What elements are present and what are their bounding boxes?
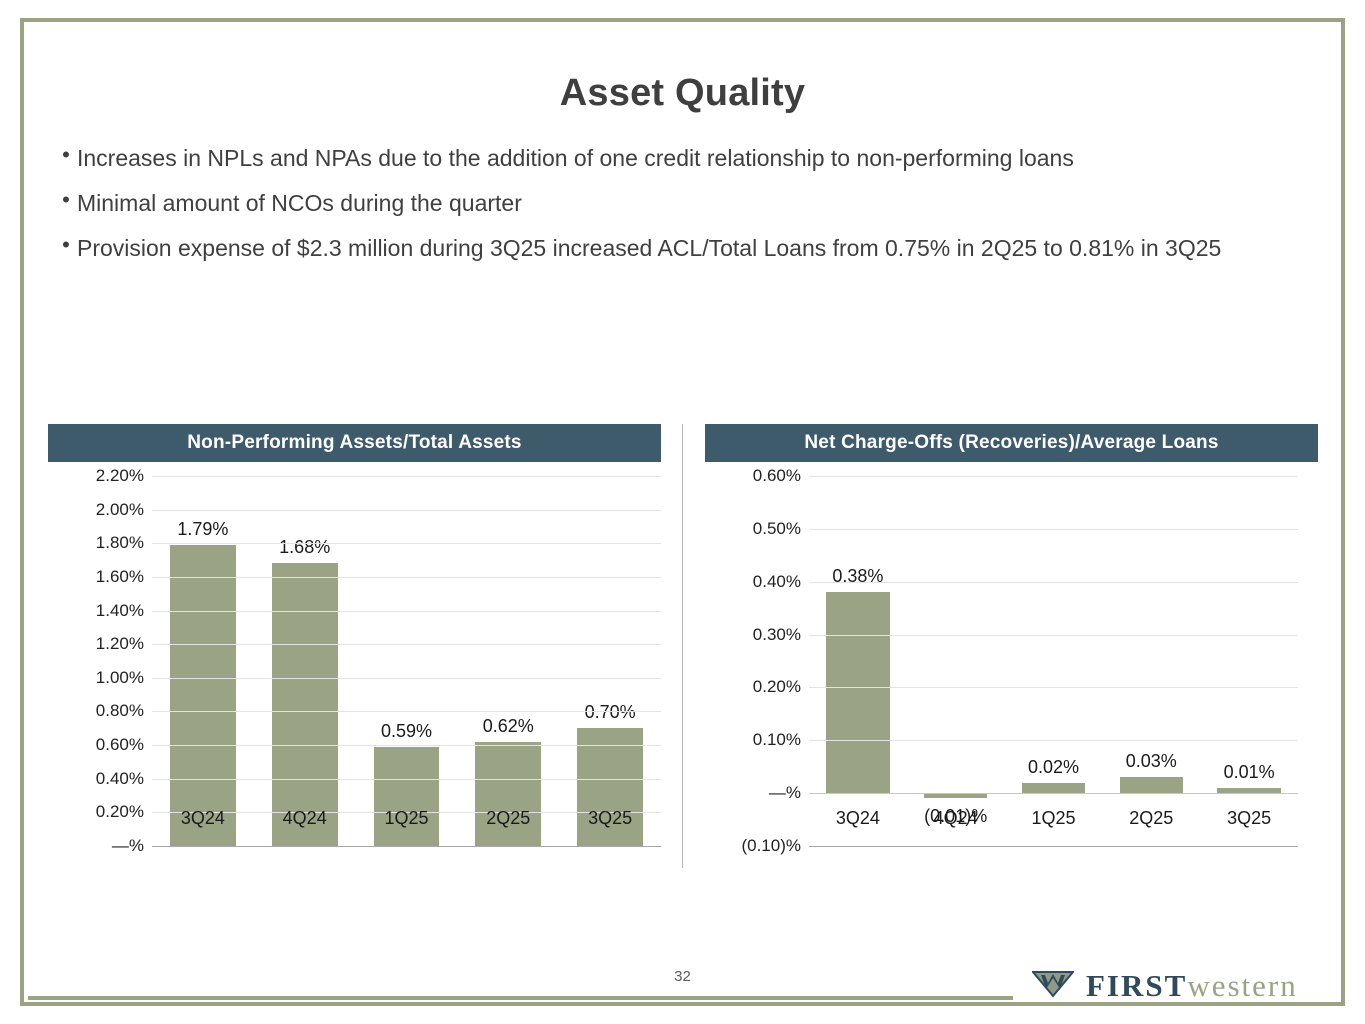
list-item: • Minimal amount of NCOs during the quar… bbox=[55, 185, 1300, 221]
bullet-text: Increases in NPLs and NPAs due to the ad… bbox=[77, 140, 1300, 176]
gridline bbox=[152, 745, 661, 746]
y-axis-tick-label: 2.20% bbox=[96, 466, 144, 486]
y-axis-tick-label: 0.20% bbox=[96, 802, 144, 822]
bar-value-label: 1.68% bbox=[239, 537, 371, 558]
y-axis-tick-label: 0.10% bbox=[753, 730, 801, 750]
bar-slot: 0.38% bbox=[814, 476, 902, 846]
bar bbox=[170, 545, 236, 846]
y-axis-tick-label: 0.20% bbox=[753, 677, 801, 697]
chart-panel-npa: Non-Performing Assets/Total Assets 2.20%… bbox=[48, 424, 661, 846]
chart-title-npa: Non-Performing Assets/Total Assets bbox=[48, 424, 661, 462]
first-western-w-emblem-icon bbox=[1032, 969, 1074, 1004]
gridline bbox=[809, 582, 1298, 583]
gridline bbox=[152, 678, 661, 679]
bar bbox=[826, 592, 889, 793]
gridline bbox=[809, 687, 1298, 688]
list-item: • Provision expense of $2.3 million duri… bbox=[55, 230, 1300, 266]
bullet-list: • Increases in NPLs and NPAs due to the … bbox=[55, 140, 1300, 275]
gridline bbox=[809, 529, 1298, 530]
bar bbox=[374, 747, 440, 846]
bar-value-label: 0.38% bbox=[795, 566, 922, 587]
gridline bbox=[152, 543, 661, 544]
chart-divider bbox=[682, 424, 683, 868]
chart-area-nco: 0.60%0.50%0.40%0.30%0.20%0.10%—%(0.10)% … bbox=[705, 476, 1318, 846]
logo-wordmark: FIRSTwestern bbox=[1086, 968, 1298, 1004]
y-axis-tick-label: 0.40% bbox=[96, 769, 144, 789]
y-axis-tick-label: 0.80% bbox=[96, 701, 144, 721]
gridline bbox=[809, 635, 1298, 636]
bullet-dot-icon: • bbox=[55, 230, 77, 260]
x-axis-tick-label: 3Q25 bbox=[564, 808, 656, 829]
bar-series-npa: 1.79%1.68%0.59%0.62%0.70% bbox=[152, 476, 661, 846]
bullet-text: Minimal amount of NCOs during the quarte… bbox=[77, 185, 1300, 221]
x-axis-tick-label: 1Q25 bbox=[1009, 808, 1097, 829]
y-axis-tick-label: 1.20% bbox=[96, 634, 144, 654]
y-axis-tick-label: 1.40% bbox=[96, 601, 144, 621]
y-axis-tick-label: 0.30% bbox=[753, 625, 801, 645]
x-axis-nco: 3Q244Q241Q252Q253Q25 bbox=[809, 808, 1298, 829]
bar bbox=[1120, 777, 1183, 793]
x-axis-tick-label: 1Q25 bbox=[361, 808, 453, 829]
plot-area-npa: 1.79%1.68%0.59%0.62%0.70% bbox=[152, 476, 661, 846]
bar-slot: 1.68% bbox=[259, 476, 351, 846]
y-axis-tick-label: —% bbox=[769, 783, 801, 803]
gridline bbox=[809, 740, 1298, 741]
bar-slot: 0.62% bbox=[462, 476, 554, 846]
chart-area-npa: 2.20%2.00%1.80%1.60%1.40%1.20%1.00%0.80%… bbox=[48, 476, 661, 846]
plot-area-nco: 0.38%(0.01)%0.02%0.03%0.01% bbox=[809, 476, 1298, 846]
y-axis-tick-label: —% bbox=[112, 836, 144, 856]
bar-value-label: 0.70% bbox=[544, 702, 676, 723]
y-axis-tick-label: 0.60% bbox=[96, 735, 144, 755]
y-axis-tick-label: (0.10)% bbox=[741, 836, 801, 856]
gridline bbox=[152, 510, 661, 511]
gridline bbox=[152, 476, 661, 477]
x-axis-tick-label: 3Q24 bbox=[814, 808, 902, 829]
gridline bbox=[152, 711, 661, 712]
gridline bbox=[152, 644, 661, 645]
gridline bbox=[152, 779, 661, 780]
bar-series-nco: 0.38%(0.01)%0.02%0.03%0.01% bbox=[809, 476, 1298, 846]
bar-slot: 0.02% bbox=[1009, 476, 1097, 846]
bar-value-label: 0.01% bbox=[1186, 762, 1313, 783]
list-item: • Increases in NPLs and NPAs due to the … bbox=[55, 140, 1300, 176]
bar-slot: 0.03% bbox=[1107, 476, 1195, 846]
bar-slot: 0.70% bbox=[564, 476, 656, 846]
chart-panel-nco: Net Charge-Offs (Recoveries)/Average Loa… bbox=[705, 424, 1318, 846]
bar-slot: (0.01)% bbox=[912, 476, 1000, 846]
first-western-logo: FIRSTwestern bbox=[1032, 968, 1298, 1004]
y-axis-tick-label: 0.50% bbox=[753, 519, 801, 539]
y-axis-tick-label: 2.00% bbox=[96, 500, 144, 520]
y-axis-npa: 2.20%2.00%1.80%1.60%1.40%1.20%1.00%0.80%… bbox=[48, 476, 144, 846]
logo-first: FIRST bbox=[1086, 968, 1187, 1003]
bar-slot: 1.79% bbox=[157, 476, 249, 846]
footer-divider bbox=[28, 996, 1013, 1000]
x-axis-npa: 3Q244Q241Q252Q253Q25 bbox=[152, 808, 661, 829]
chart-title-nco: Net Charge-Offs (Recoveries)/Average Loa… bbox=[705, 424, 1318, 462]
y-axis-tick-label: 1.00% bbox=[96, 668, 144, 688]
x-axis-tick-label: 3Q24 bbox=[157, 808, 249, 829]
slide: Asset Quality • Increases in NPLs and NP… bbox=[0, 0, 1365, 1024]
bullet-dot-icon: • bbox=[55, 185, 77, 215]
gridline bbox=[809, 476, 1298, 477]
x-axis-tick-label: 4Q24 bbox=[912, 808, 1000, 829]
x-axis-line bbox=[809, 846, 1298, 847]
x-axis-tick-label: 2Q25 bbox=[462, 808, 554, 829]
bullet-dot-icon: • bbox=[55, 140, 77, 170]
bar bbox=[272, 563, 338, 846]
page-title: Asset Quality bbox=[0, 72, 1365, 115]
logo-western: western bbox=[1187, 968, 1297, 1003]
bar bbox=[475, 742, 541, 846]
bullet-text: Provision expense of $2.3 million during… bbox=[77, 230, 1300, 266]
y-axis-tick-label: 1.60% bbox=[96, 567, 144, 587]
y-axis-tick-label: 0.60% bbox=[753, 466, 801, 486]
bar-slot: 0.01% bbox=[1205, 476, 1293, 846]
bar bbox=[1022, 783, 1085, 794]
zero-line bbox=[809, 793, 1298, 794]
bar-slot: 0.59% bbox=[361, 476, 453, 846]
gridline bbox=[152, 577, 661, 578]
x-axis-tick-label: 4Q24 bbox=[259, 808, 351, 829]
gridline bbox=[152, 611, 661, 612]
x-axis-line bbox=[152, 846, 661, 847]
y-axis-nco: 0.60%0.50%0.40%0.30%0.20%0.10%—%(0.10)% bbox=[705, 476, 801, 846]
x-axis-tick-label: 3Q25 bbox=[1205, 808, 1293, 829]
x-axis-tick-label: 2Q25 bbox=[1107, 808, 1195, 829]
